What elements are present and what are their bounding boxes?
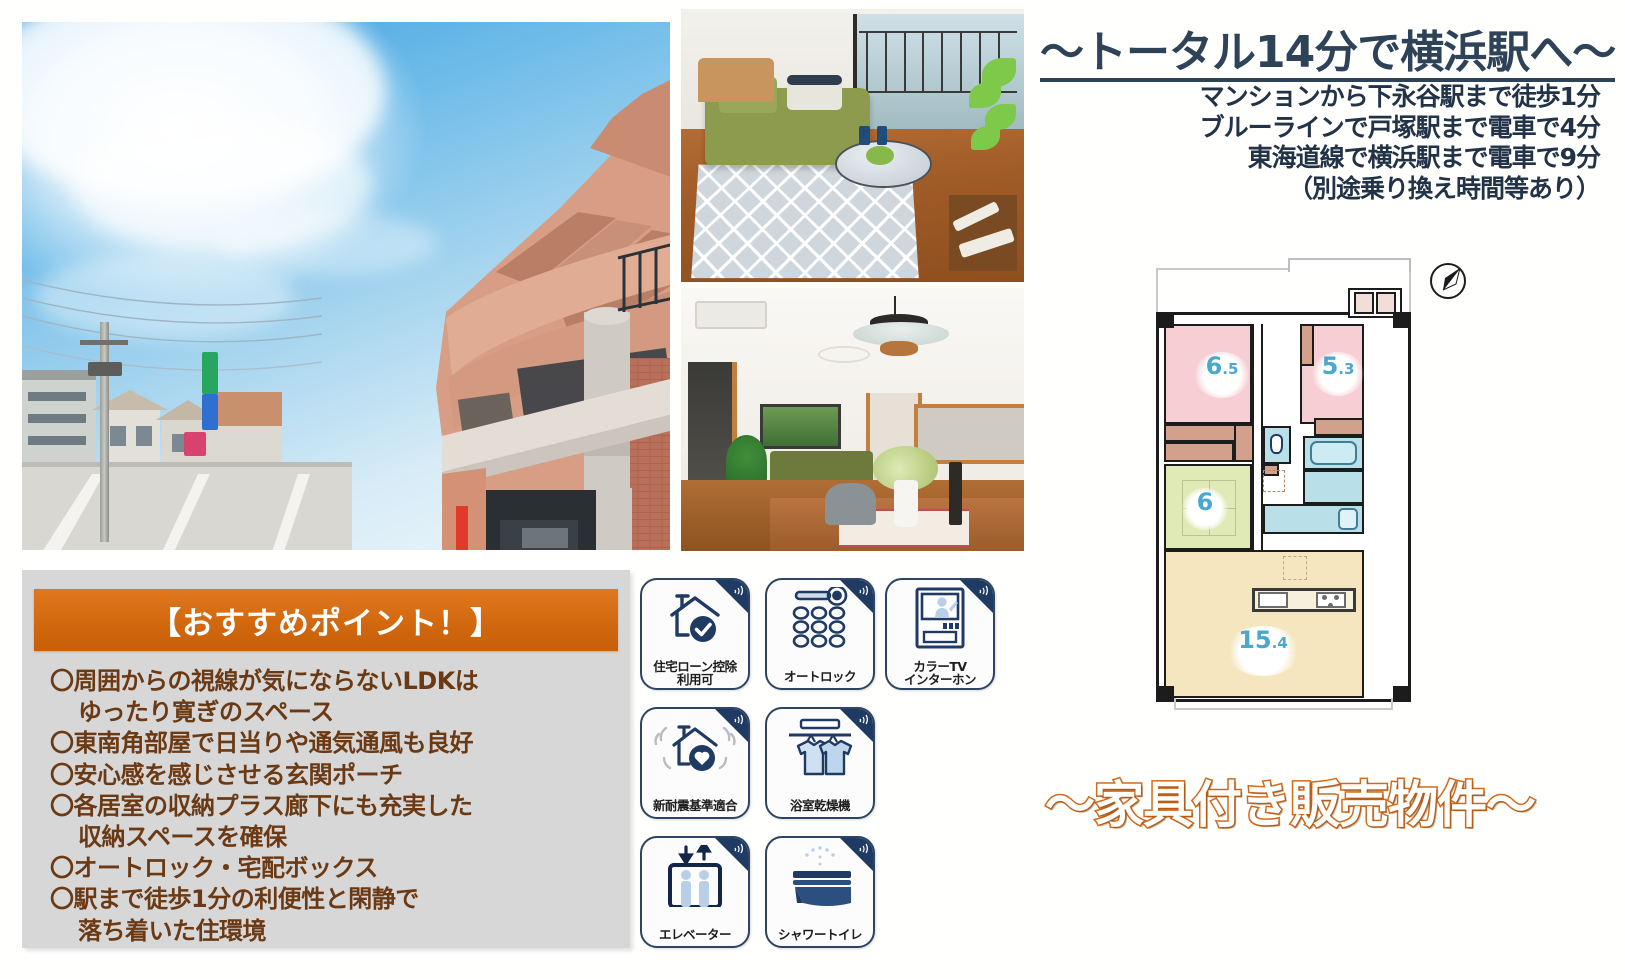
area-badge-ldk: 15.4 [1226,626,1300,676]
table-plant [866,146,893,165]
badge-label: 新耐震基準適合 [642,799,748,812]
wall-block [1156,686,1174,702]
feature-badge-grid: 住宅ローン控除 利用可 オートロック [640,578,896,944]
kitchen-sink [1258,592,1288,608]
blue-glass [877,126,887,145]
entry-corridor-outline [1288,258,1411,272]
area-value-major: 6 [1206,352,1223,380]
area-value-major: 5 [1322,352,1339,380]
badge-label-line2: インターホン [904,672,976,687]
access-line-1: マンションから下永谷駅まで徒歩1分 [1040,82,1600,113]
north-arrow-icon [1425,258,1471,304]
hallway [1252,324,1263,550]
dining-chair [825,483,876,525]
badge-bathroom-dryer[interactable]: 浴室乾燥機 [765,707,875,819]
wall-block [1156,312,1174,328]
area-value-minor: .4 [1272,634,1288,652]
badge-color-tv-intercom[interactable]: カラーTV インターホン [885,578,995,690]
washbasin [1338,508,1358,530]
area-value-major: 6 [1197,488,1214,516]
wifi-icon [855,713,869,727]
access-line-3: 東海道線で横浜駅まで電車で9分 [1040,143,1600,174]
recommend-header-bar: 【おすすめポイント！】 [34,589,618,651]
living-room-photo [681,9,1024,282]
washroom [1303,470,1364,504]
access-headline: 〜トータル14分で横浜駅へ〜 [1040,30,1615,82]
area-badge-western-nw: 6.5 [1194,352,1250,398]
ceiling-light-ring [818,346,870,363]
badge-label-line2: 利用可 [677,672,713,687]
badge-new-quake-standard[interactable]: 新耐震基準適合 [640,707,750,819]
access-line-2: ブルーラインで戸塚駅まで電車で4分 [1040,113,1600,144]
storage-cross [1283,556,1307,580]
badge-elevator[interactable]: エレベーター [640,836,750,948]
recommend-points-panel: 【おすすめポイント！】 〇周囲からの視線が気にならないLDKは ゆったり寛ぎのス… [22,570,630,948]
pillow-stripe [787,75,842,86]
closet-ne [1300,324,1314,366]
recommend-item: 〇周囲からの視線が気にならないLDKは [50,666,620,697]
badge-label: 浴室乾燥機 [767,799,873,812]
burner [1322,595,1327,600]
badge-label: 住宅ローン控除 利用可 [642,660,748,686]
recommend-item: 〇各居室の収納プラス廊下にも充実した [50,791,620,822]
toilet-fixture [1270,434,1283,454]
recommend-item: 〇オートロック・宅配ボックス [50,853,620,884]
wall-block [1393,312,1411,328]
pole-transformer [88,362,122,376]
burner [1328,603,1333,608]
flyer-page: 〜トータル14分で横浜駅へ〜 マンションから下永谷駅まで徒歩1分 ブルーラインで… [0,0,1625,979]
closet-nw-2 [1164,442,1234,462]
wifi-icon [855,842,869,856]
pendant-shade-bottom [880,341,918,357]
area-badge-western-ne: 5.3 [1312,352,1364,396]
area-value-major: 15 [1238,626,1271,654]
access-line-4: （別途乗り換え時間等あり） [1040,174,1600,205]
area-value-minor: .5 [1222,360,1238,378]
recommend-list: 〇周囲からの視線が気にならないLDKは ゆったり寛ぎのスペース 〇東南角部屋で日… [50,666,620,947]
air-conditioner [695,301,768,329]
shoe-box [1354,292,1374,314]
area-value-minor: .3 [1338,360,1354,378]
parking-sign [184,432,206,456]
pole-crossarm [80,340,128,345]
utility-pole [100,322,109,542]
badge-label: シャワートイレ [767,928,873,941]
area-badge-japanese: 6 [1182,488,1228,530]
badge-label: オートロック [767,670,873,683]
badge-auto-lock[interactable]: オートロック [765,578,875,690]
recommend-item: 落ち着いた住環境 [50,916,620,947]
recommend-item: ゆったり寛ぎのスペース [50,697,620,728]
lower-balcony-outline [1174,698,1393,710]
dining-chair-back [698,58,773,102]
green-sign [202,352,218,394]
potted-plant [966,58,1021,167]
shoe-box [1376,292,1396,314]
building-exterior-photo [22,22,670,550]
badge-shower-toilet[interactable]: シャワートイレ [765,836,875,948]
badge-label: エレベーター [642,928,748,941]
badge-housing-loan-deduction[interactable]: 住宅ローン控除 利用可 [640,578,750,690]
dining-room-photo [681,288,1024,551]
furnished-sale-headline: 〜家具付き販売物件〜 [1000,765,1580,837]
recommend-title: 【おすすめポイント！】 [150,598,502,643]
recommend-item: 〇安心感を感じさせる玄関ポーチ [50,760,620,791]
bathtub [1310,441,1357,465]
floor-plan: 6.5 5.3 6 [1148,258,1448,710]
wifi-icon [730,842,744,856]
wifi-icon [730,713,744,727]
blue-sign [202,394,218,430]
recommend-item: 収納スペースを確保 [50,822,620,853]
wine-bottle [949,462,963,525]
blue-glass [859,126,869,145]
recommend-item: 〇駅まで徒歩1分の利便性と閑静で [50,884,620,915]
closet-ne-2 [1314,418,1364,436]
storage-cross [1263,470,1285,492]
recommend-item: 〇東南角部屋で日当りや通気通風も良好 [50,728,620,759]
garden-window [760,404,841,449]
access-info-block: 〜トータル14分で横浜駅へ〜 マンションから下永谷駅まで徒歩1分 ブルーラインで… [1040,30,1600,204]
wifi-icon [855,584,869,598]
apartment-building [260,58,670,550]
badge-label: カラーTV インターホン [887,660,993,686]
wifi-icon [730,584,744,598]
wall-block [1393,686,1411,702]
wifi-icon [975,584,989,598]
burner [1334,595,1339,600]
white-vase [894,480,918,527]
